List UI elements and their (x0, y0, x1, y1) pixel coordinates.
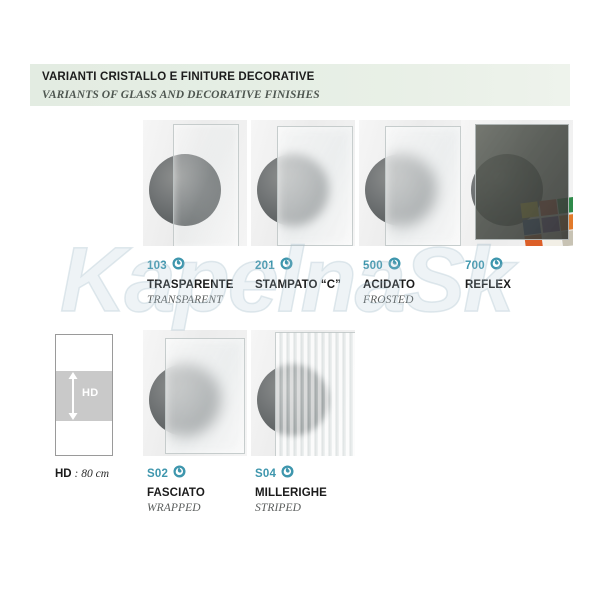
page-title: VARIANTI CRISTALLO E FINITURE DECORATIVE (42, 71, 314, 83)
glass-drop-icon (173, 465, 186, 483)
label-block-stampato-c: 201 STAMPATO “C” (255, 258, 341, 294)
finish-code: 700 (465, 260, 485, 272)
code-row: 201 (255, 258, 341, 274)
label-block-fasciato: S02 FASCIATO WRAPPED (147, 466, 205, 514)
finish-name-it: MILLERIGHE (255, 487, 327, 499)
swatch-image-millerighe[interactable] (251, 330, 355, 456)
finish-code: 103 (147, 260, 167, 272)
glass-pane-wrapped (165, 338, 245, 454)
hd-caption: HD : 80 cm (55, 468, 109, 480)
swatch-image-acidato[interactable] (359, 120, 463, 246)
glass-drop-icon (281, 465, 294, 483)
hd-band-label: HD (82, 387, 99, 399)
finish-name-it: FASCIATO (147, 487, 205, 499)
code-row: S04 (255, 466, 327, 482)
label-block-acidato: 500 ACIDATO FROSTED (363, 258, 415, 306)
hd-dimension-diagram: HD (55, 334, 113, 456)
swatch-image-transparente[interactable] (143, 120, 247, 246)
code-row: S02 (147, 466, 205, 482)
glass-pane-reflex (475, 124, 569, 240)
finish-name-en: WRAPPED (147, 502, 205, 514)
label-block-reflex: 700 REFLEX (465, 258, 511, 294)
finish-name-it: REFLEX (465, 279, 511, 291)
hd-double-arrow-icon (66, 371, 80, 421)
finish-name-it: TRASPARENTE (147, 279, 234, 291)
glass-drop-icon (172, 257, 185, 275)
swatch-image-fasciato[interactable] (143, 330, 247, 456)
finish-name-en: FROSTED (363, 294, 415, 306)
finish-name-en: STRIPED (255, 502, 327, 514)
swatch-image-stampato-c[interactable] (251, 120, 355, 246)
finish-name-en: TRANSPARENT (147, 294, 234, 306)
hd-caption-sep: : (72, 468, 82, 480)
glass-pane-striped (275, 332, 355, 456)
glass-drop-icon (490, 257, 503, 275)
glass-pane-printed-c (277, 126, 353, 246)
finish-name-it: ACIDATO (363, 279, 415, 291)
glass-pane-frosted (385, 126, 461, 246)
code-row: 103 (147, 258, 234, 274)
page-subtitle: VARIANTS OF GLASS AND DECORATIVE FINISHE… (42, 89, 320, 101)
finish-code: 201 (255, 260, 275, 272)
code-row: 500 (363, 258, 415, 274)
glass-pane-transparent (173, 124, 239, 246)
label-block-millerighe: S04 MILLERIGHE STRIPED (255, 466, 327, 514)
hd-caption-key: HD (55, 468, 72, 480)
label-block-transparente: 103 TRASPARENTE TRANSPARENT (147, 258, 234, 306)
glass-drop-icon (280, 257, 293, 275)
hd-caption-value: 80 cm (81, 468, 109, 480)
swatch-image-reflex[interactable] (461, 120, 573, 246)
finish-code: S04 (255, 468, 276, 480)
finish-name-it: STAMPATO “C” (255, 279, 341, 291)
finish-code: S02 (147, 468, 168, 480)
code-row: 700 (465, 258, 511, 274)
finish-code: 500 (363, 260, 383, 272)
glass-drop-icon (388, 257, 401, 275)
